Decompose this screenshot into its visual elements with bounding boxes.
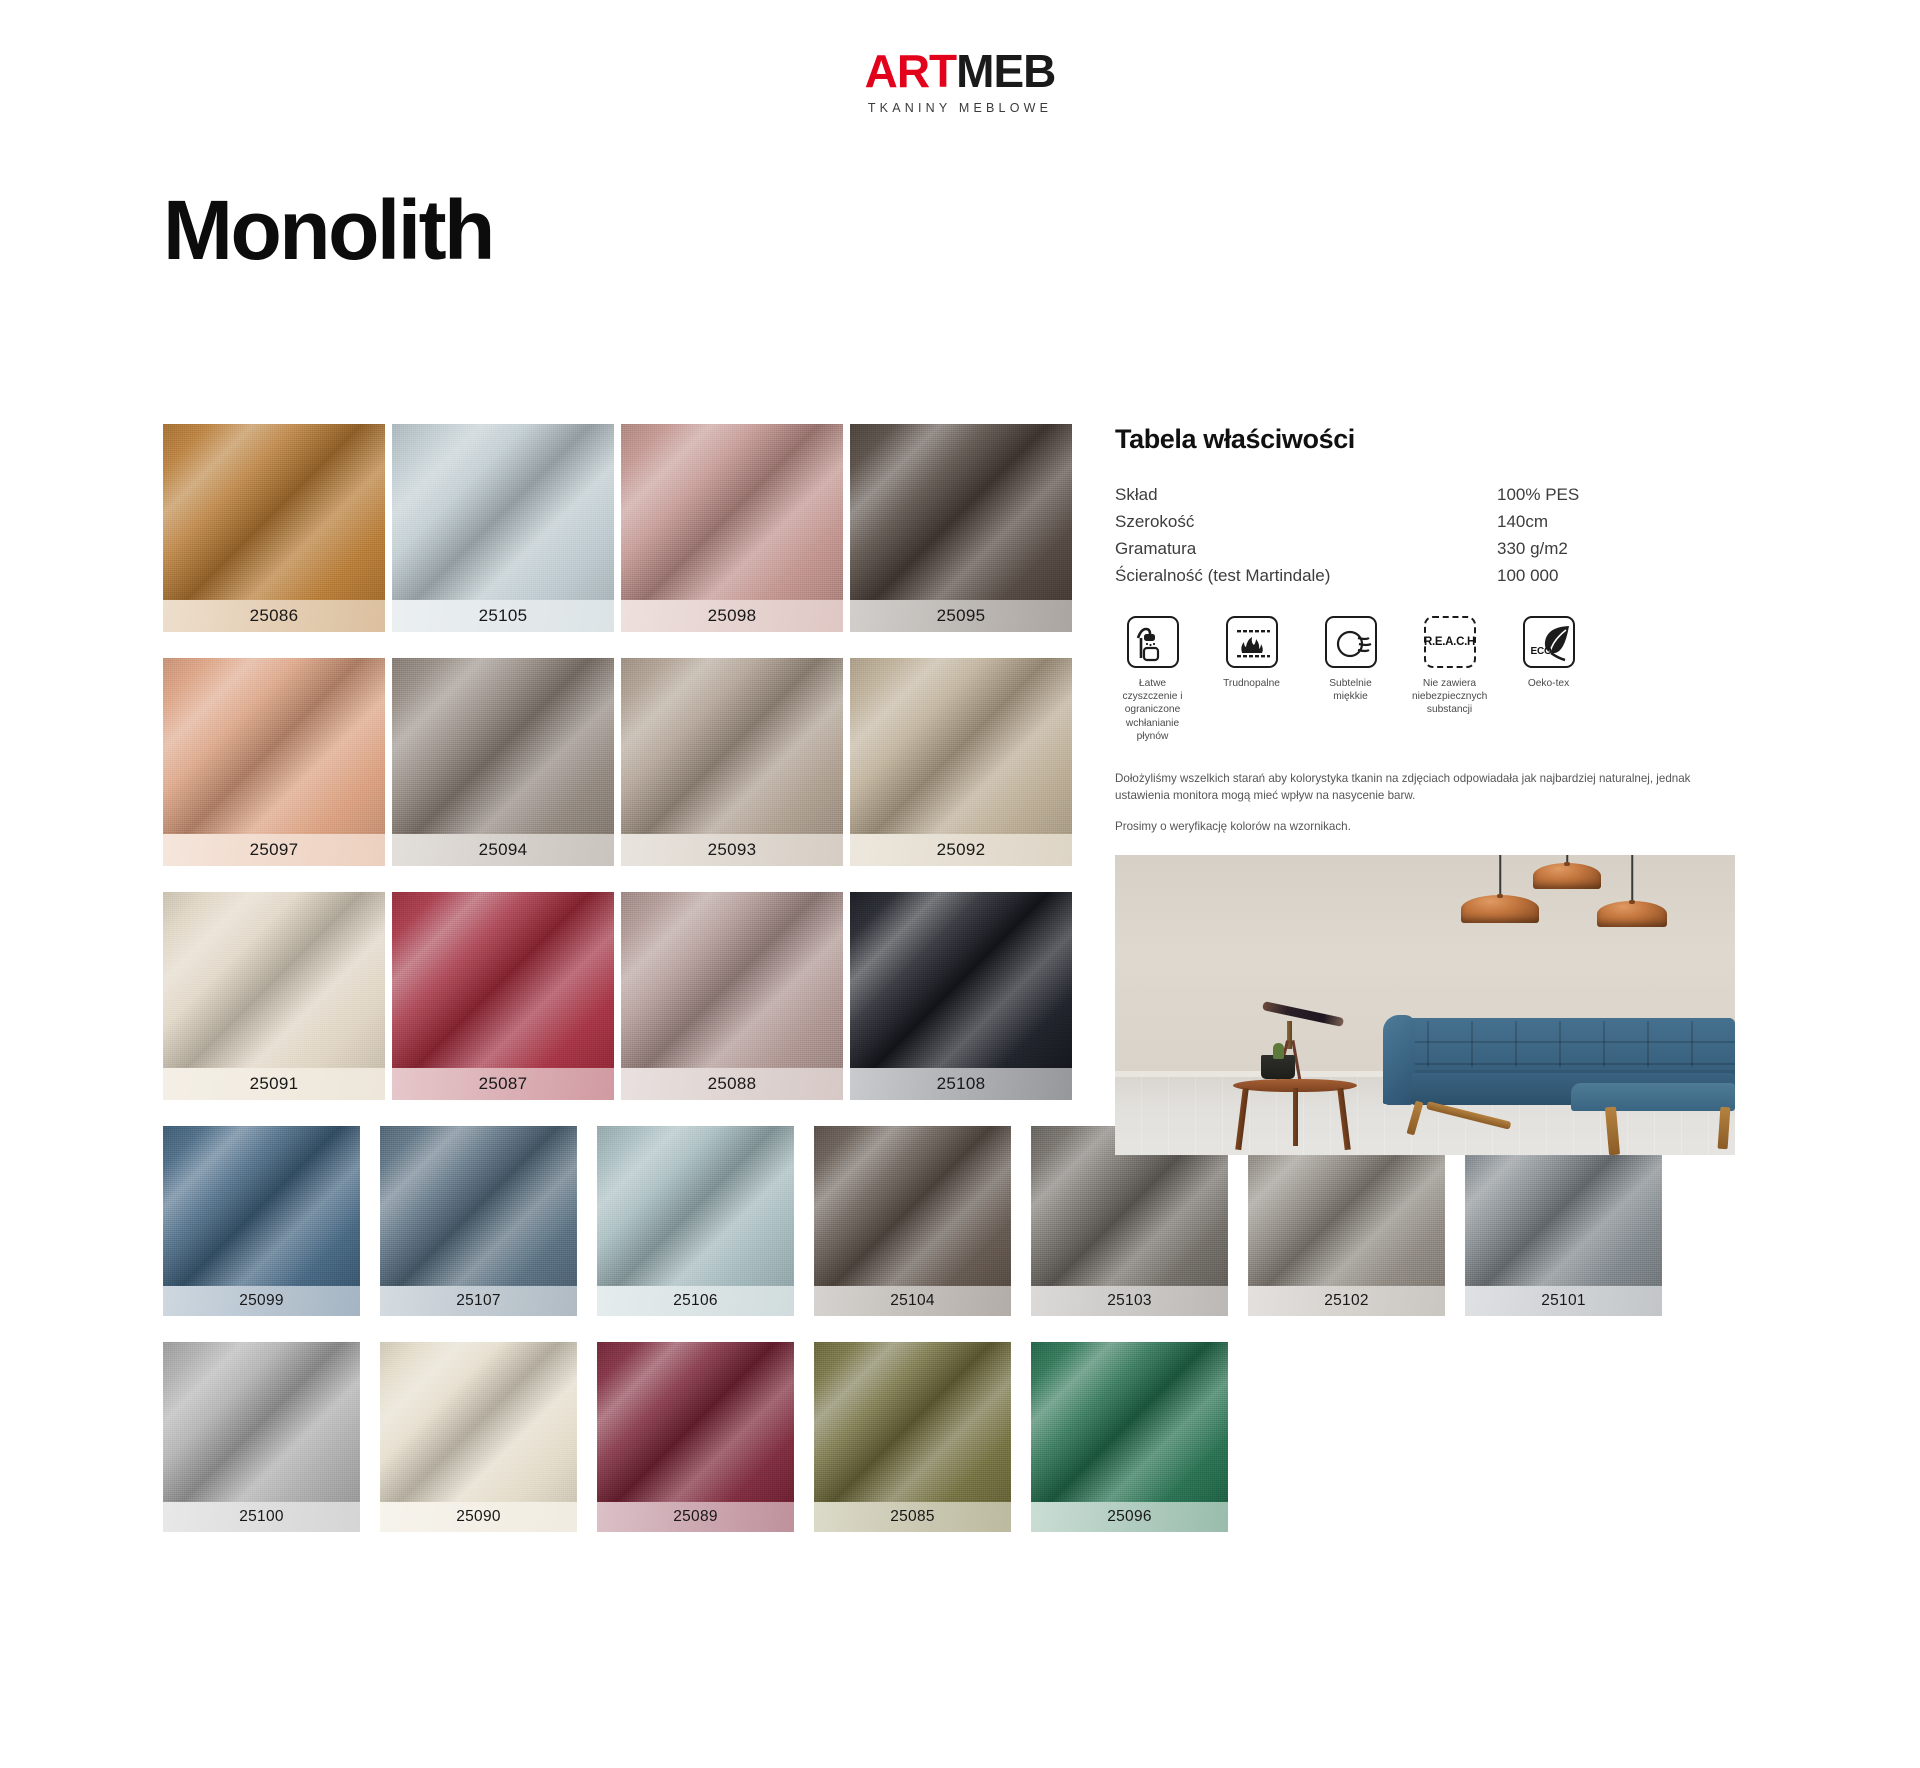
reach-caption: Nie zawiera niebezpiecznych substancji: [1412, 677, 1487, 717]
fabric-swatch-label: 25100: [163, 1502, 360, 1532]
oeko-tex-caption: Oeko-tex: [1511, 677, 1586, 690]
fabric-swatch-label: 25097: [163, 834, 385, 866]
disclaimer-paragraph-1: Dołożyliśmy wszelkich starań aby kolorys…: [1115, 770, 1727, 804]
sofa-tuft-line-h1: [1397, 1041, 1735, 1043]
sofa-tuft-line-h2: [1397, 1063, 1735, 1065]
fabric-code: 25102: [1324, 1292, 1369, 1309]
swatch-row: 2510025090250892508525096: [163, 1342, 1743, 1532]
fabric-code: 25094: [479, 840, 528, 859]
fabric-code: 25089: [673, 1508, 718, 1525]
fabric-swatch-image: [814, 1126, 1011, 1286]
certification-icons: Łatwe czyszczenie i ograniczone wchłania…: [1115, 616, 1735, 744]
fabric-swatch-label: 25103: [1031, 1286, 1228, 1316]
icon-cell-flame-retardant: Trudnopalne: [1214, 616, 1289, 744]
interior-photo: [1115, 855, 1735, 1155]
flame-retardant-icon: [1226, 616, 1278, 668]
sofa-tuft-v1: [1427, 1021, 1429, 1067]
sofa-chaise: [1571, 1083, 1735, 1111]
fabric-swatch[interactable]: 25105: [392, 424, 614, 632]
swatch-row: 25097250942509325092: [163, 658, 1103, 866]
eco-badge-text: ECO: [1531, 646, 1552, 657]
fabric-swatch-image: [163, 1126, 360, 1286]
fabric-code: 25108: [937, 1074, 986, 1093]
fabric-code: 25097: [250, 840, 299, 859]
fabric-swatch-image: [597, 1126, 794, 1286]
fabric-swatch[interactable]: 25098: [621, 424, 843, 632]
fabric-swatch[interactable]: 25089: [597, 1342, 794, 1532]
properties-panel: Tabela właściwości Skład100% PESSzerokoś…: [1115, 424, 1735, 1155]
fabric-swatch[interactable]: 25106: [597, 1126, 794, 1316]
fabric-code: 25090: [456, 1508, 501, 1525]
sofa-tuft-v5: [1603, 1021, 1605, 1067]
fabric-swatch-label: 25104: [814, 1286, 1011, 1316]
logo-meb-text: MEB: [956, 45, 1055, 97]
fabric-swatch[interactable]: 25086: [163, 424, 385, 632]
fabric-code: 25086: [250, 606, 299, 625]
fabric-swatch-label: 25108: [850, 1068, 1072, 1100]
fabric-code: 25085: [890, 1508, 935, 1525]
property-key: Ścieralność (test Martindale): [1115, 562, 1497, 589]
sofa-tuft-v7: [1691, 1021, 1693, 1067]
fabric-swatch[interactable]: 25108: [850, 892, 1072, 1100]
properties-table: Skład100% PESSzerokość140cmGramatura330 …: [1115, 481, 1735, 590]
fabric-swatch[interactable]: 25085: [814, 1342, 1011, 1532]
fabric-code: 25100: [239, 1508, 284, 1525]
color-disclaimer: Dołożyliśmy wszelkich starań aby kolorys…: [1115, 770, 1727, 835]
fabric-swatch-image: [392, 658, 614, 834]
fabric-swatch-image: [380, 1342, 577, 1502]
fabric-swatch[interactable]: 25107: [380, 1126, 577, 1316]
fabric-swatch[interactable]: 25097: [163, 658, 385, 866]
fabric-swatch-label: 25096: [1031, 1502, 1228, 1532]
fabric-swatch-image: [850, 424, 1072, 600]
fabric-swatch-label: 25102: [1248, 1286, 1445, 1316]
disclaimer-paragraph-2: Prosimy o weryfikację kolorów na wzornik…: [1115, 818, 1727, 835]
logo-wordmark: ARTMEB: [0, 48, 1920, 94]
fabric-code: 25105: [479, 606, 528, 625]
fabric-swatch-image: [621, 424, 843, 600]
icon-cell-reach: R.E.A.C.H Nie zawiera niebezpiecznych su…: [1412, 616, 1487, 744]
fabric-swatch-image: [392, 892, 614, 1068]
fabric-swatch-image: [163, 892, 385, 1068]
fabric-code: 25106: [673, 1292, 718, 1309]
properties-heading: Tabela właściwości: [1115, 424, 1735, 455]
fabric-swatch[interactable]: 25091: [163, 892, 385, 1100]
swatch-row: 25091250872508825108: [163, 892, 1103, 1100]
cactus-plant: [1273, 1043, 1284, 1059]
fabric-swatch-label: 25101: [1465, 1286, 1662, 1316]
fabric-swatch-image: [814, 1342, 1011, 1502]
fabric-swatch-image: [850, 892, 1072, 1068]
property-value: 100% PES: [1497, 481, 1735, 508]
fabric-swatch-label: 25099: [163, 1286, 360, 1316]
fabric-code: 25107: [456, 1292, 501, 1309]
fabric-swatch-label: 25106: [597, 1286, 794, 1316]
fabric-code: 25096: [1107, 1508, 1152, 1525]
fabric-swatch-image: [380, 1126, 577, 1286]
fabric-swatch-label: 25086: [163, 600, 385, 632]
fabric-swatch[interactable]: 25100: [163, 1342, 360, 1532]
soft-touch-icon: [1325, 616, 1377, 668]
easy-clean-icon: [1127, 616, 1179, 668]
fabric-swatch-label: 25094: [392, 834, 614, 866]
fabric-swatch[interactable]: 25095: [850, 424, 1072, 632]
table-leg-2: [1293, 1088, 1298, 1146]
sofa-tuft-v4: [1559, 1021, 1561, 1067]
fabric-swatch-label: 25088: [621, 1068, 843, 1100]
fabric-swatch[interactable]: 25090: [380, 1342, 577, 1532]
fabric-swatch-label: 25107: [380, 1286, 577, 1316]
swatch-row: 25086251052509825095: [163, 424, 1103, 632]
fabric-swatch[interactable]: 25094: [392, 658, 614, 866]
property-row: Szerokość140cm: [1115, 508, 1735, 535]
fabric-swatch-label: 25087: [392, 1068, 614, 1100]
fabric-swatch-label: 25089: [597, 1502, 794, 1532]
sofa-tuft-v3: [1515, 1021, 1517, 1067]
fabric-swatch[interactable]: 25104: [814, 1126, 1011, 1316]
fabric-code: 25101: [1541, 1292, 1586, 1309]
fabric-swatch-label: 25091: [163, 1068, 385, 1100]
icon-cell-oeko-tex: ECO Oeko-tex: [1511, 616, 1586, 744]
oeko-tex-icon: ECO: [1523, 616, 1575, 668]
fabric-swatch[interactable]: 25092: [850, 658, 1072, 866]
fabric-swatch-image: [1031, 1342, 1228, 1502]
reach-icon: R.E.A.C.H: [1424, 616, 1476, 668]
page-title: Monolith: [163, 188, 493, 272]
fabric-swatch-image: [392, 424, 614, 600]
property-row: Ścieralność (test Martindale)100 000: [1115, 562, 1735, 589]
fabric-swatch-image: [597, 1342, 794, 1502]
fabric-swatch-grid: 2508625105250982509525097250942509325092…: [163, 424, 1103, 1558]
easy-clean-caption: Łatwe czyszczenie i ograniczone wchłania…: [1115, 677, 1190, 744]
fabric-code: 25088: [708, 1074, 757, 1093]
sofa-tuft-v6: [1647, 1021, 1649, 1067]
property-value: 330 g/m2: [1497, 535, 1735, 562]
fabric-swatch[interactable]: 25096: [1031, 1342, 1228, 1532]
fabric-swatch-image: [163, 1342, 360, 1502]
property-key: Gramatura: [1115, 535, 1497, 562]
property-row: Skład100% PES: [1115, 481, 1735, 508]
soft-touch-caption: Subtelnie miękkie: [1313, 677, 1388, 704]
fabric-swatch-label: 25093: [621, 834, 843, 866]
fabric-swatch-label: 25098: [621, 600, 843, 632]
fabric-swatch-image: [621, 658, 843, 834]
fabric-swatch[interactable]: 25099: [163, 1126, 360, 1316]
brand-logo: ARTMEB TKANINY MEBLOWE: [0, 48, 1920, 115]
property-key: Szerokość: [1115, 508, 1497, 535]
fabric-code: 25092: [937, 840, 986, 859]
pendant-lamp-2: [1533, 855, 1601, 897]
logo-tagline: TKANINY MEBLOWE: [0, 101, 1920, 115]
fabric-swatch[interactable]: 25087: [392, 892, 614, 1100]
pendant-lamp-3: [1597, 855, 1667, 933]
fabric-code: 25098: [708, 606, 757, 625]
reach-badge-text: R.E.A.C.H: [1426, 618, 1474, 666]
fabric-code: 25104: [890, 1292, 935, 1309]
fabric-code: 25091: [250, 1074, 299, 1093]
sofa-tuft-v2: [1471, 1021, 1473, 1067]
fabric-code: 25087: [479, 1074, 528, 1093]
fabric-swatch-label: 25105: [392, 600, 614, 632]
property-key: Skład: [1115, 481, 1497, 508]
fabric-swatch-image: [621, 892, 843, 1068]
property-value: 100 000: [1497, 562, 1735, 589]
fabric-swatch-label: 25092: [850, 834, 1072, 866]
fabric-swatch-label: 25085: [814, 1502, 1011, 1532]
icon-cell-easy-clean: Łatwe czyszczenie i ograniczone wchłania…: [1115, 616, 1190, 744]
pendant-lamp-1: [1461, 855, 1539, 923]
logo-art-text: ART: [865, 45, 957, 97]
fabric-swatch-image: [163, 424, 385, 600]
catalog-page: ARTMEB TKANINY MEBLOWE Monolith 25086251…: [0, 0, 1920, 1768]
fabric-swatch[interactable]: 25088: [621, 892, 843, 1100]
property-value: 140cm: [1497, 508, 1735, 535]
fabric-swatch-label: 25095: [850, 600, 1072, 632]
fabric-code: 25093: [708, 840, 757, 859]
flame-retardant-caption: Trudnopalne: [1214, 677, 1289, 690]
fabric-code: 25099: [239, 1292, 284, 1309]
fabric-swatch-image: [850, 658, 1072, 834]
icon-cell-soft-touch: Subtelnie miękkie: [1313, 616, 1388, 744]
property-row: Gramatura330 g/m2: [1115, 535, 1735, 562]
fabric-code: 25103: [1107, 1292, 1152, 1309]
fabric-code: 25095: [937, 606, 986, 625]
fabric-swatch[interactable]: 25093: [621, 658, 843, 866]
fabric-swatch-image: [163, 658, 385, 834]
fabric-swatch-label: 25090: [380, 1502, 577, 1532]
